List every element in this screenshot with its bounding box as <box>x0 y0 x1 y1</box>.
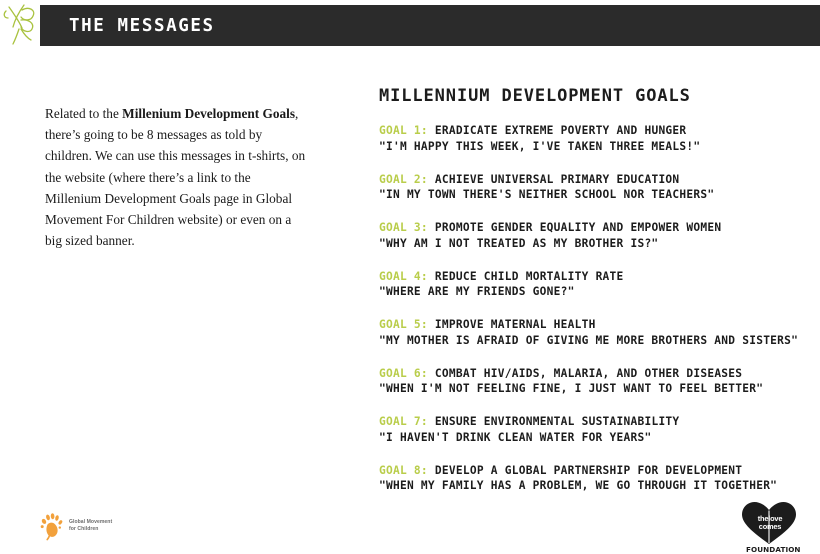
love-logo-line2: comes <box>753 523 787 531</box>
goal-title: COMBAT HIV/AIDS, MALARIA, AND OTHER DISE… <box>435 367 742 380</box>
goal-title: IMPROVE MATERNAL HEALTH <box>435 318 596 331</box>
goal-title: ENSURE ENVIRONMENTAL SUSTAINABILITY <box>435 415 680 428</box>
ribbon-flourish-icon <box>0 1 40 47</box>
goal-label: GOAL 5: <box>379 318 428 331</box>
goal-label: GOAL 6: <box>379 367 428 380</box>
intro-text-before: Related to the <box>45 106 122 121</box>
goal-title-line: GOAL 7: ENSURE ENVIRONMENTAL SUSTAINABIL… <box>379 414 809 430</box>
goal-item: GOAL 2: ACHIEVE UNIVERSAL PRIMARY EDUCAT… <box>379 172 809 203</box>
global-movement-for-children-logo: Global Movement for Children <box>37 511 142 543</box>
gmc-logo-line1: Global Movement <box>69 519 112 526</box>
goal-quote: "WHERE ARE MY FRIENDS GONE?" <box>379 284 809 300</box>
goal-label: GOAL 8: <box>379 464 428 477</box>
page-title: THE MESSAGES <box>69 16 215 36</box>
goal-item: GOAL 6: COMBAT HIV/AIDS, MALARIA, AND OT… <box>379 366 809 397</box>
goal-quote: "I'M HAPPY THIS WEEK, I'VE TAKEN THREE M… <box>379 139 809 155</box>
goal-item: GOAL 4: REDUCE CHILD MORTALITY RATE "WHE… <box>379 269 809 300</box>
header-bar: THE MESSAGES <box>40 5 820 46</box>
goal-label: GOAL 4: <box>379 270 428 283</box>
goals-heading: MILLENNIUM DEVELOPMENT GOALS <box>379 86 809 106</box>
goal-item: GOAL 7: ENSURE ENVIRONMENTAL SUSTAINABIL… <box>379 414 809 445</box>
love-logo-caption: FOUNDATION <box>746 545 801 554</box>
goal-quote: "IN MY TOWN THERE'S NEITHER SCHOOL NOR T… <box>379 187 809 203</box>
goal-label: GOAL 1: <box>379 124 428 137</box>
intro-text-after: , there’s going to be 8 messages as told… <box>45 106 305 248</box>
goal-item: GOAL 1: ERADICATE EXTREME POVERTY AND HU… <box>379 123 809 154</box>
goal-label: GOAL 3: <box>379 221 428 234</box>
goal-title-line: GOAL 5: IMPROVE MATERNAL HEALTH <box>379 317 809 333</box>
goal-title-line: GOAL 4: REDUCE CHILD MORTALITY RATE <box>379 269 809 285</box>
gmc-logo-line2: for Children <box>69 526 112 533</box>
goal-title: ACHIEVE UNIVERSAL PRIMARY EDUCATION <box>435 173 680 186</box>
intro-bold-phrase: Millenium Development Goals <box>122 106 295 121</box>
gmc-logo-text: Global Movement for Children <box>69 519 112 532</box>
goal-quote: "MY MOTHER IS AFRAID OF GIVING ME MORE B… <box>379 333 809 349</box>
goal-item: GOAL 5: IMPROVE MATERNAL HEALTH "MY MOTH… <box>379 317 809 348</box>
love-logo-wordmark: thelove comes <box>753 515 787 531</box>
goal-quote: "I HAVEN'T DRINK CLEAN WATER FOR YEARS" <box>379 430 809 446</box>
goal-title: ERADICATE EXTREME POVERTY AND HUNGER <box>435 124 686 137</box>
goal-title: PROMOTE GENDER EQUALITY AND EMPOWER WOME… <box>435 221 721 234</box>
goal-quote: "WHEN MY FAMILY HAS A PROBLEM, WE GO THR… <box>379 478 809 494</box>
goal-title-line: GOAL 6: COMBAT HIV/AIDS, MALARIA, AND OT… <box>379 366 809 382</box>
goal-title-line: GOAL 3: PROMOTE GENDER EQUALITY AND EMPO… <box>379 220 809 236</box>
goal-title-line: GOAL 1: ERADICATE EXTREME POVERTY AND HU… <box>379 123 809 139</box>
goal-label: GOAL 2: <box>379 173 428 186</box>
goal-label: GOAL 7: <box>379 415 428 428</box>
goal-title: DEVELOP A GLOBAL PARTNERSHIP FOR DEVELOP… <box>435 464 742 477</box>
orange-handprint-icon <box>37 511 67 541</box>
goal-item: GOAL 3: PROMOTE GENDER EQUALITY AND EMPO… <box>379 220 809 251</box>
goal-title-line: GOAL 8: DEVELOP A GLOBAL PARTNERSHIP FOR… <box>379 463 809 479</box>
goal-item: GOAL 8: DEVELOP A GLOBAL PARTNERSHIP FOR… <box>379 463 809 494</box>
goals-panel: MILLENNIUM DEVELOPMENT GOALS GOAL 1: ERA… <box>379 86 809 511</box>
the-love-comes-foundation-logo: thelove comes FOUNDATION <box>740 500 802 554</box>
goal-quote: "WHY AM I NOT TREATED AS MY BROTHER IS?" <box>379 236 809 252</box>
goal-title-line: GOAL 2: ACHIEVE UNIVERSAL PRIMARY EDUCAT… <box>379 172 809 188</box>
goal-quote: "WHEN I'M NOT FEELING FINE, I JUST WANT … <box>379 381 809 397</box>
intro-paragraph: Related to the Millenium Development Goa… <box>45 103 307 251</box>
goal-title: REDUCE CHILD MORTALITY RATE <box>435 270 624 283</box>
